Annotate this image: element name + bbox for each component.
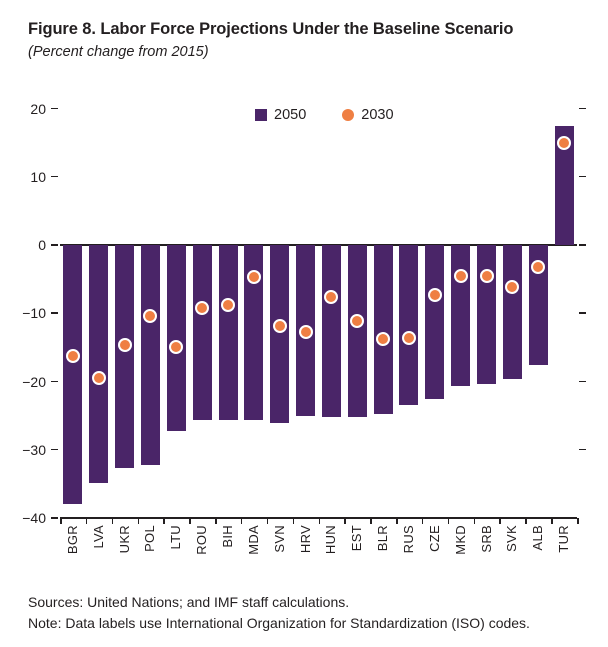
bar-svn [270,245,289,423]
bar-ltu [167,245,186,431]
x-axis-tick-mark [163,518,165,524]
bar-bgr [63,245,82,504]
dot-rou [195,301,209,315]
x-axis-label-bih: BIH [221,525,234,548]
bar-bih [219,245,238,420]
y-axis-tick-mark-right [579,244,586,246]
x-axis-label-rus: RUS [402,525,415,553]
y-axis-tick-mark-right [579,449,586,451]
x-axis-label-pol: POL [143,525,156,552]
x-axis-label-svk: SVK [505,525,518,552]
dot-ltu [169,340,183,354]
dot-bih [221,298,235,312]
dot-alb [531,260,545,274]
x-axis-label-alb: ALB [531,525,544,550]
dot-rus [402,331,416,345]
x-axis-label-tur: TUR [557,525,570,553]
x-axis-tick-mark [422,518,424,524]
x-axis-tick-mark [241,518,243,524]
dot-lva [92,371,106,385]
dot-mkd [454,269,468,283]
x-axis-label-rou: ROU [195,525,208,555]
y-axis-tick-label: −30 [0,443,46,457]
x-axis-tick-mark [344,518,346,524]
x-axis-tick-mark [474,518,476,524]
x-axis-label-bgr: BGR [66,525,79,554]
chart-plot: 20100−10−20−30−40BGRLVAUKRPOLLTUROUBIHMD… [0,0,608,647]
dot-cze [428,288,442,302]
bar-mkd [451,245,470,386]
x-axis-label-blr: BLR [376,525,389,551]
x-axis-tick-mark [370,518,372,524]
bar-pol [141,245,160,465]
y-axis-tick-mark-right [579,312,586,314]
chart-footnotes: Sources: United Nations; and IMF staff c… [28,592,530,634]
x-axis-label-mda: MDA [247,525,260,555]
dot-blr [376,332,390,346]
x-axis-tick-mark [86,518,88,524]
x-axis-tick-mark [551,518,553,524]
bar-blr [374,245,393,414]
y-axis-tick-mark [51,517,58,519]
dot-hrv [299,325,313,339]
x-axis-label-cze: CZE [428,525,441,552]
y-axis-tick-mark-right [579,108,586,110]
y-axis-tick-mark [51,108,58,110]
dot-tur [557,136,571,150]
x-axis-tick-mark [293,518,295,524]
zero-axis-line [60,244,577,246]
x-axis-tick-mark [396,518,398,524]
y-axis-tick-label: −40 [0,511,46,525]
bar-rus [399,245,418,405]
y-axis-tick-label: −10 [0,306,46,320]
y-axis-tick-label: 20 [0,102,46,116]
bar-lva [89,245,108,483]
x-axis-label-ukr: UKR [118,525,131,553]
bar-svk [503,245,522,379]
x-axis-tick-mark [267,518,269,524]
x-axis-label-hun: HUN [324,525,337,554]
x-axis-tick-mark [60,518,62,524]
y-axis-tick-label: 10 [0,170,46,184]
bar-srb [477,245,496,384]
y-axis-tick-mark [51,176,58,178]
bar-ukr [115,245,134,468]
bar-rou [193,245,212,420]
dot-ukr [118,338,132,352]
y-axis-tick-mark [51,449,58,451]
x-axis-label-ltu: LTU [169,525,182,550]
x-axis-tick-mark [215,518,217,524]
x-axis-tick-mark [448,518,450,524]
x-axis-tick-mark [189,518,191,524]
x-axis-tick-mark [499,518,501,524]
y-axis-tick-label: 0 [0,238,46,252]
y-axis-tick-mark [51,244,58,246]
x-axis-label-est: EST [350,525,363,551]
y-axis-tick-mark [51,381,58,383]
sources-text: Sources: United Nations; and IMF staff c… [28,592,530,613]
bar-est [348,245,367,417]
y-axis-tick-mark-right [579,381,586,383]
bar-cze [425,245,444,399]
y-axis-tick-mark [51,312,58,314]
x-axis-label-svn: SVN [273,525,286,553]
y-axis-tick-label: −20 [0,375,46,389]
dot-srb [480,269,494,283]
x-axis-label-mkd: MKD [454,525,467,555]
x-axis-tick-mark [112,518,114,524]
note-text: Note: Data labels use International Orga… [28,613,530,634]
x-axis-label-lva: LVA [92,525,105,549]
y-axis-tick-mark-right [579,176,586,178]
x-axis-label-srb: SRB [480,525,493,553]
figure-page: Figure 8. Labor Force Projections Under … [0,0,608,647]
x-axis-tick-mark [577,518,579,524]
dot-mda [247,270,261,284]
dot-svn [273,319,287,333]
x-axis-label-hrv: HRV [299,525,312,553]
x-axis-tick-mark [525,518,527,524]
x-axis-tick-mark [138,518,140,524]
bar-hun [322,245,341,417]
dot-est [350,314,364,328]
x-axis-tick-mark [319,518,321,524]
